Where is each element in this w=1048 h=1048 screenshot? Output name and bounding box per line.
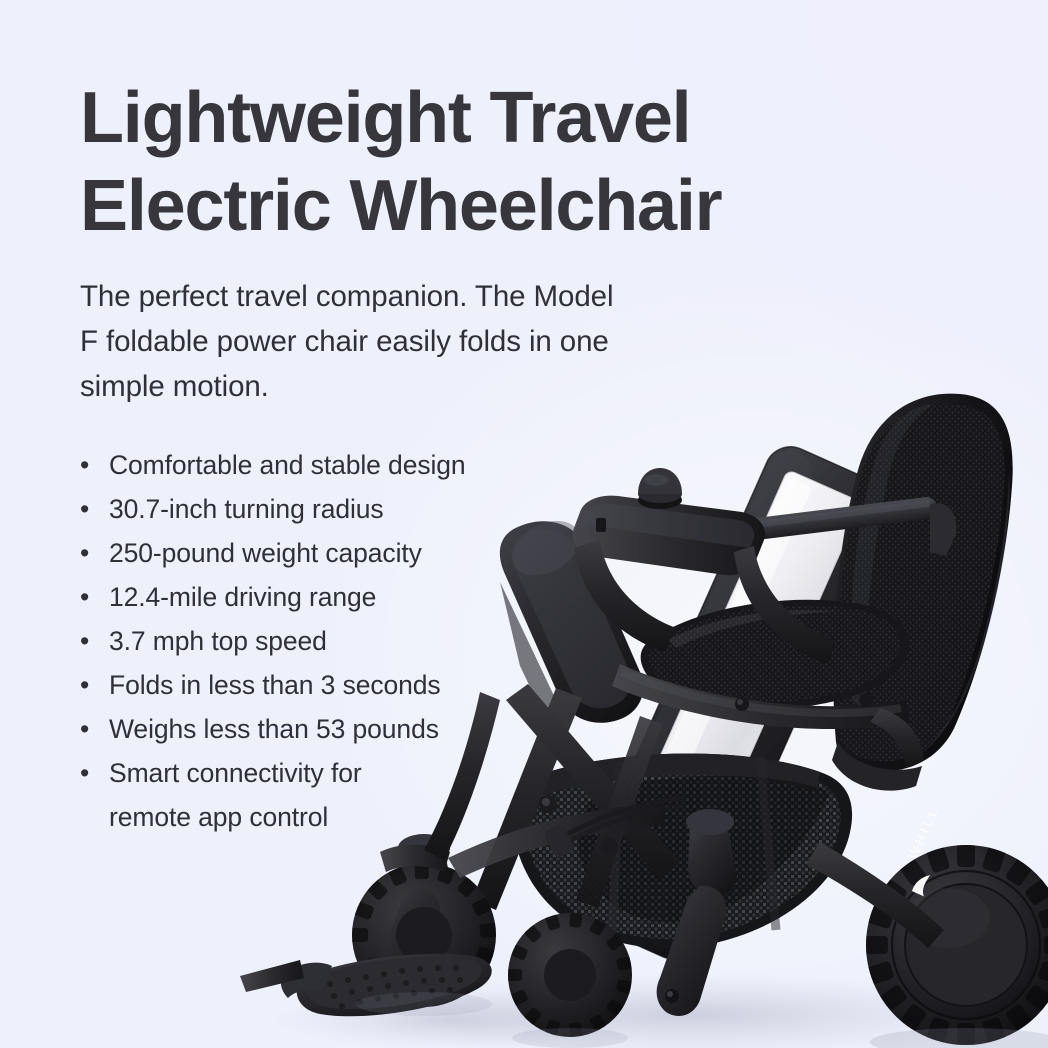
bullet-marker-icon: • xyxy=(80,707,89,751)
list-item: • Smart connectivity for remote app cont… xyxy=(80,751,500,839)
feature-text: Weighs less than 53 pounds xyxy=(109,714,439,744)
list-item: • 30.7-inch turning radius xyxy=(80,487,500,531)
bullet-marker-icon: • xyxy=(80,575,89,619)
list-item: • Comfortable and stable design xyxy=(80,443,500,487)
feature-text: Comfortable and stable design xyxy=(109,450,466,480)
list-item: • 3.7 mph top speed xyxy=(80,619,500,663)
seat-back xyxy=(832,394,1013,791)
page-title: Lightweight Travel Electric Wheelchair xyxy=(80,74,800,250)
feature-list: • Comfortable and stable design • 30.7-i… xyxy=(80,443,800,839)
feature-text: 30.7-inch turning radius xyxy=(109,494,384,524)
bullet-marker-icon: • xyxy=(80,619,89,663)
list-item: • 250-pound weight capacity xyxy=(80,531,500,575)
subheading-text: The perfect travel companion. The Model … xyxy=(80,274,620,409)
bullet-marker-icon: • xyxy=(80,751,89,795)
bullet-marker-icon: • xyxy=(80,531,89,575)
bullet-marker-icon: • xyxy=(80,663,89,707)
feature-text: Folds in less than 3 seconds xyxy=(109,670,441,700)
bullet-marker-icon: • xyxy=(80,487,89,531)
feature-text: 250-pound weight capacity xyxy=(109,538,422,568)
marketing-copy-block: Lightweight Travel Electric Wheelchair T… xyxy=(80,74,800,839)
feature-text: 3.7 mph top speed xyxy=(109,626,327,656)
list-item: • 12.4-mile driving range xyxy=(80,575,500,619)
feature-text: Smart connectivity for remote app contro… xyxy=(109,758,362,832)
list-item: • Folds in less than 3 seconds xyxy=(80,663,500,707)
list-item: • Weighs less than 53 pounds xyxy=(80,707,500,751)
poster-canvas: WHILL xyxy=(0,0,1048,1048)
bullet-marker-icon: • xyxy=(80,443,89,487)
feature-text: 12.4-mile driving range xyxy=(109,582,376,612)
